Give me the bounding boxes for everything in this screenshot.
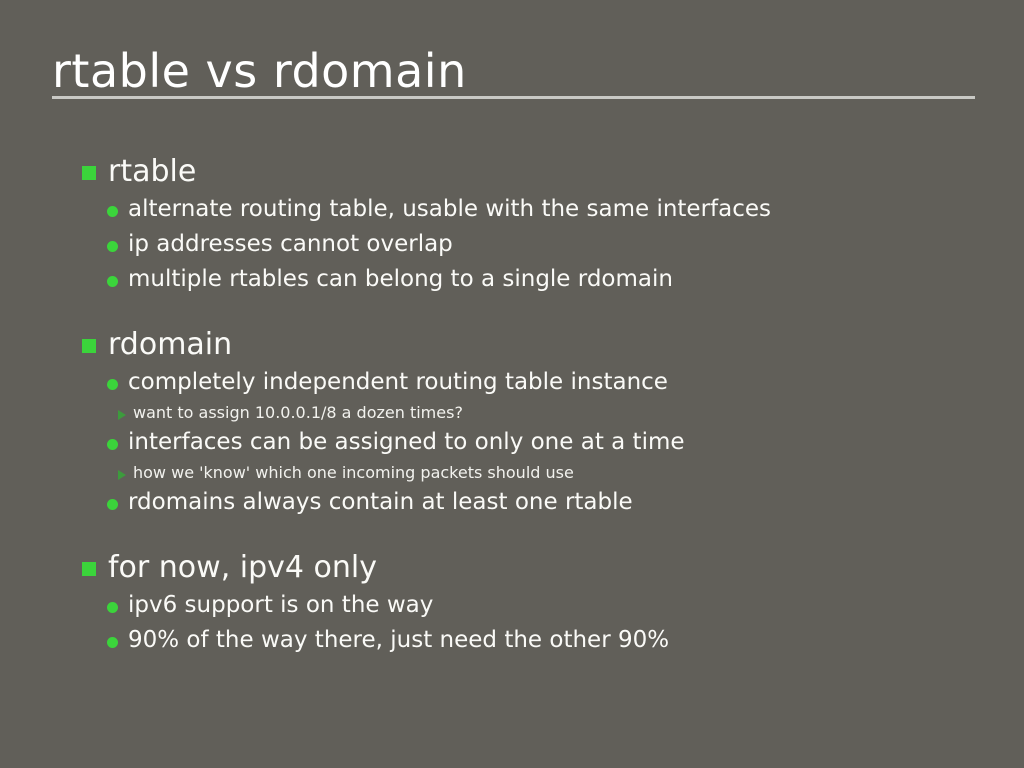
bullet-level2-label: interfaces can be assigned to only one a…: [128, 425, 1024, 460]
bullet-level2-label: ip addresses cannot overlap: [128, 227, 1024, 262]
bullet-level2-label: 90% of the way there, just need the othe…: [128, 623, 1024, 658]
dot-bullet-icon: [107, 276, 118, 287]
bullet-level2: ipv6 support is on the way: [0, 588, 1024, 623]
triangle-bullet-icon: [118, 470, 126, 480]
bullet-level2: multiple rtables can belong to a single …: [0, 262, 1024, 297]
title-divider: [52, 96, 975, 99]
bullet-level2-label: alternate routing table, usable with the…: [128, 192, 1024, 227]
triangle-bullet-icon: [118, 410, 126, 420]
dot-bullet-icon: [107, 637, 118, 648]
square-bullet-icon: [82, 339, 96, 353]
bullet-level1: rtable: [0, 152, 1024, 192]
bullet-level2-label: ipv6 support is on the way: [128, 588, 1024, 623]
dot-bullet-icon: [107, 439, 118, 450]
dot-bullet-icon: [107, 602, 118, 613]
bullet-level1: for now, ipv4 only: [0, 548, 1024, 588]
bullet-level1: rdomain: [0, 325, 1024, 365]
bullet-level3-label: how we 'know' which one incoming packets…: [133, 460, 1024, 485]
presentation-slide: rtable vs rdomain rtable alternate routi…: [0, 0, 1024, 768]
slide-title-block: rtable vs rdomain: [52, 44, 975, 98]
dot-bullet-icon: [107, 241, 118, 252]
bullet-level1-label: rtable: [108, 152, 196, 192]
page-title: rtable vs rdomain: [52, 44, 975, 98]
bullet-level2: interfaces can be assigned to only one a…: [0, 425, 1024, 460]
bullet-level2-label: rdomains always contain at least one rta…: [128, 485, 1024, 520]
bullet-level3: how we 'know' which one incoming packets…: [0, 460, 1024, 485]
bullet-group-rtable: rtable alternate routing table, usable w…: [0, 152, 1024, 297]
bullet-level1-label: rdomain: [108, 325, 232, 365]
square-bullet-icon: [82, 562, 96, 576]
bullet-group-rdomain: rdomain completely independent routing t…: [0, 325, 1024, 520]
bullet-level1-label: for now, ipv4 only: [108, 548, 377, 588]
square-bullet-icon: [82, 166, 96, 180]
bullet-level2: rdomains always contain at least one rta…: [0, 485, 1024, 520]
bullet-group-ipv4: for now, ipv4 only ipv6 support is on th…: [0, 548, 1024, 658]
bullet-level2: alternate routing table, usable with the…: [0, 192, 1024, 227]
dot-bullet-icon: [107, 499, 118, 510]
bullet-level2-label: completely independent routing table ins…: [128, 365, 1024, 400]
dot-bullet-icon: [107, 379, 118, 390]
bullet-level2: ip addresses cannot overlap: [0, 227, 1024, 262]
bullet-level2: 90% of the way there, just need the othe…: [0, 623, 1024, 658]
slide-body: rtable alternate routing table, usable w…: [0, 152, 1024, 658]
dot-bullet-icon: [107, 206, 118, 217]
bullet-level3-label: want to assign 10.0.0.1/8 a dozen times?: [133, 400, 1024, 425]
bullet-level2-label: multiple rtables can belong to a single …: [128, 262, 1024, 297]
bullet-level3: want to assign 10.0.0.1/8 a dozen times?: [0, 400, 1024, 425]
bullet-level2: completely independent routing table ins…: [0, 365, 1024, 400]
